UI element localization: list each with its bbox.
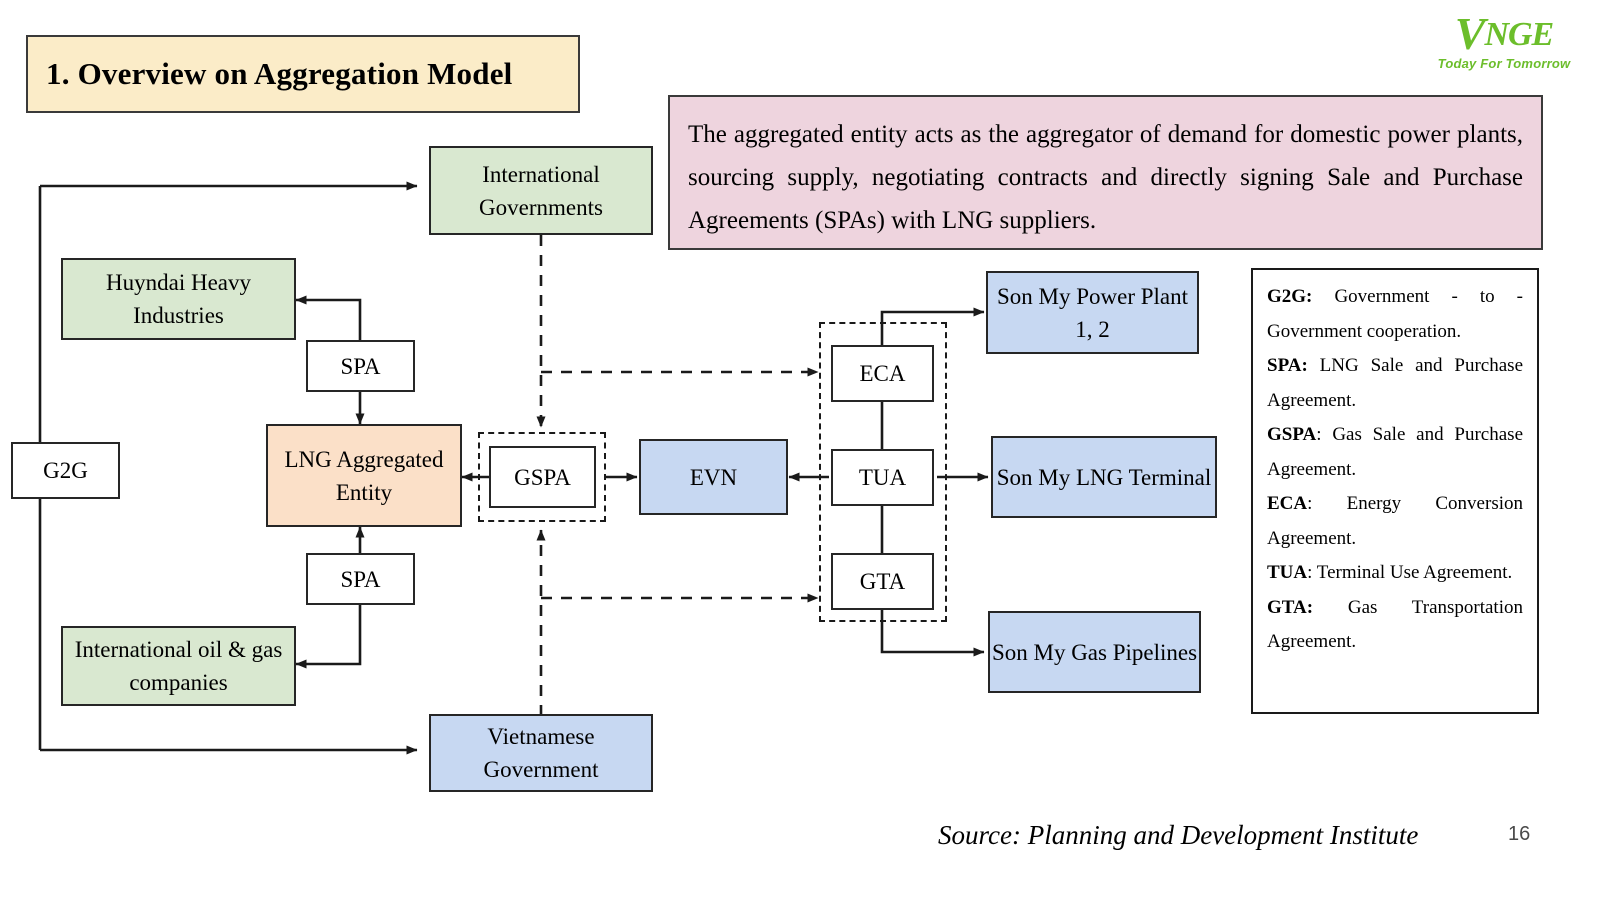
node-label: SPA [340,563,380,596]
node-spa-top[interactable]: SPA [306,340,415,392]
logo-nge-letters: NGE [1484,16,1553,53]
node-label: Son My Gas Pipelines [992,636,1197,669]
legend-term: SPA: [1267,355,1308,376]
wire-spa-bottom-to-oil-gas [296,604,360,664]
node-label: International Governments [431,158,651,224]
node-label: Huyndai Heavy Industries [63,266,294,332]
slide-canvas: 1. Overview on Aggregation Model VNGE To… [0,0,1600,900]
node-label: Vietnamese Government [431,720,651,786]
source-caption: Source: Planning and Development Institu… [938,820,1418,851]
summary-callout: The aggregated entity acts as the aggreg… [668,95,1543,250]
legend-definition: : Terminal Use Agreement. [1307,562,1512,583]
node-son-my-lng-terminal[interactable]: Son My LNG Terminal [991,436,1217,518]
node-international-governments[interactable]: International Governments [429,146,653,235]
legend-term: TUA [1267,562,1307,583]
legend-item: GSPA: Gas Sale and Purchase Agreement. [1267,418,1523,487]
legend-term: ECA [1267,493,1307,514]
legend-item: G2G: Government - to - Government cooper… [1267,280,1523,349]
legend-term: GTA: [1267,597,1313,618]
node-label: LNG Aggregated Entity [268,443,460,509]
legend-item: SPA: LNG Sale and Purchase Agreement. [1267,349,1523,418]
page-number: 16 [1508,823,1530,846]
logo-tagline: Today For Tomorrow [1418,55,1590,73]
page-title: 1. Overview on Aggregation Model [46,56,512,92]
node-spa-bottom[interactable]: SPA [306,553,415,605]
node-huyndai-heavy-industries[interactable]: Huyndai Heavy Industries [61,258,296,340]
node-evn[interactable]: EVN [639,439,788,515]
node-international-oil-gas-companies[interactable]: International oil & gas companies [61,626,296,706]
node-label: International oil & gas companies [63,633,294,699]
legend-item: GTA: Gas Transportation Agreement. [1267,591,1523,660]
legend-item: TUA: Terminal Use Agreement. [1267,556,1523,591]
legend-item: ECA: Energy Conversion Agreement. [1267,487,1523,556]
node-tua[interactable]: TUA [831,449,934,506]
legend-term: G2G: [1267,286,1312,307]
node-label: GSPA [514,461,571,494]
node-label: Son My Power Plant 1, 2 [988,280,1197,346]
node-gta[interactable]: GTA [831,553,934,610]
node-label: GTA [860,565,905,598]
node-gspa[interactable]: GSPA [489,446,596,508]
abbreviation-legend: G2G: Government - to - Government cooper… [1251,268,1539,714]
node-g2g[interactable]: G2G [11,442,120,499]
node-label: EVN [690,461,737,494]
node-lng-aggregated-entity[interactable]: LNG Aggregated Entity [266,424,462,527]
slide-title-box: 1. Overview on Aggregation Model [26,35,580,113]
node-vietnamese-government[interactable]: Vietnamese Government [429,714,653,792]
node-label: ECA [860,357,906,390]
legend-term: GSPA [1267,424,1316,445]
vnge-logo: VNGE Today For Tomorrow [1418,14,1590,84]
node-son-my-gas-pipelines[interactable]: Son My Gas Pipelines [988,611,1201,693]
node-label: SPA [340,350,380,383]
node-label: TUA [859,461,906,494]
node-label: G2G [43,454,88,487]
wire-spa-top-to-huyndai [296,300,360,340]
node-eca[interactable]: ECA [831,345,934,402]
logo-wordmark: VNGE [1418,14,1590,55]
node-son-my-power-plant[interactable]: Son My Power Plant 1, 2 [986,271,1199,354]
logo-v-letter: V [1455,8,1485,59]
summary-text: The aggregated entity acts as the aggreg… [688,113,1523,242]
node-label: Son My LNG Terminal [997,461,1212,494]
